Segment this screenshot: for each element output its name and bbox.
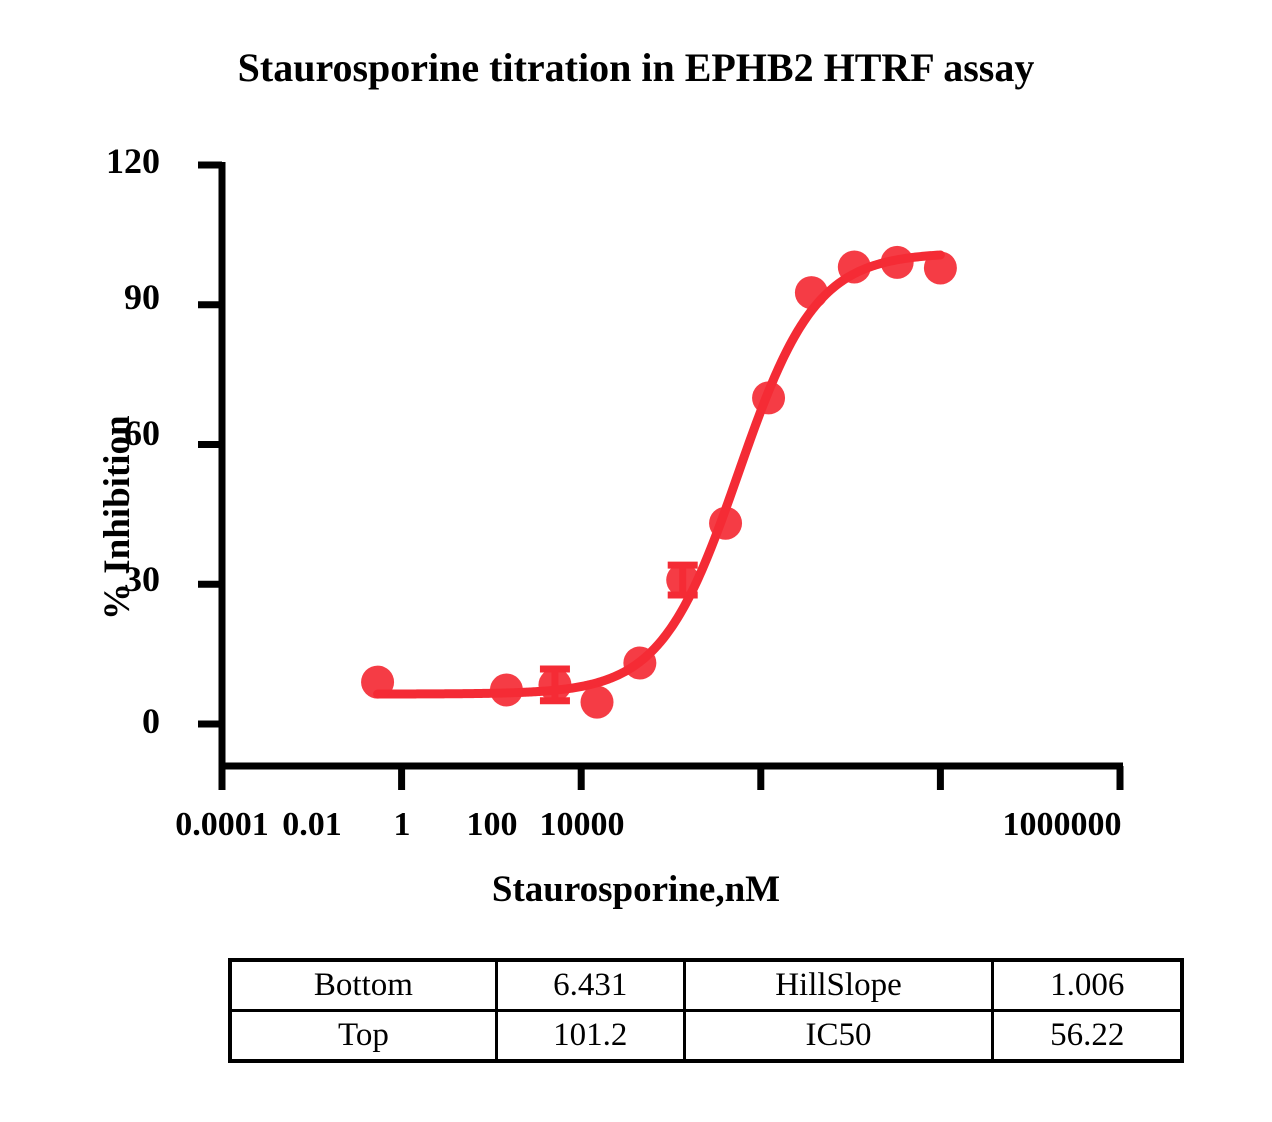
data-point — [623, 646, 656, 679]
y-tick-label-120: 120 — [40, 140, 160, 182]
data-point — [666, 564, 699, 597]
data-point — [538, 668, 571, 701]
data-point — [361, 666, 394, 699]
param-label: Bottom — [230, 960, 496, 1011]
x-tick-label-4: 10000 — [482, 806, 682, 844]
y-tick-label-90: 90 — [40, 276, 160, 318]
param-value: 56.22 — [993, 1011, 1182, 1062]
y-tick-label-0: 0 — [40, 700, 160, 742]
param-label: IC50 — [684, 1011, 993, 1062]
param-value: 6.431 — [496, 960, 684, 1011]
data-point — [581, 686, 614, 719]
y-tick-label-60: 60 — [40, 412, 160, 454]
param-value: 101.2 — [496, 1011, 684, 1062]
param-label: Top — [230, 1011, 496, 1062]
param-label: HillSlope — [684, 960, 993, 1011]
x-axis-label: Staurosporine,nM — [0, 868, 1272, 911]
fit-curve — [378, 255, 941, 694]
data-point — [881, 246, 914, 279]
results-row: Top101.2IC5056.22 — [230, 1011, 1182, 1062]
data-point — [838, 251, 871, 284]
plot-svg — [0, 0, 1272, 1122]
figure-root: Staurosporine titration in EPHB2 HTRF as… — [0, 0, 1272, 1122]
fit-curve-path — [378, 255, 941, 694]
data-point — [924, 251, 957, 284]
x-tick-label-5: 1000000 — [962, 806, 1162, 844]
axes — [198, 162, 1123, 790]
data-point — [752, 381, 785, 414]
y-tick-label-30: 30 — [40, 558, 160, 600]
data-point — [709, 507, 742, 540]
data-point — [490, 673, 523, 706]
param-value: 1.006 — [993, 960, 1182, 1011]
results-table: Bottom6.431HillSlope1.006Top101.2IC5056.… — [228, 958, 1184, 1063]
results-row: Bottom6.431HillSlope1.006 — [230, 960, 1182, 1011]
data-point — [795, 276, 828, 309]
plot-area: % Inhibition Staurosporine,nM 0 30 60 90… — [0, 0, 1272, 1122]
